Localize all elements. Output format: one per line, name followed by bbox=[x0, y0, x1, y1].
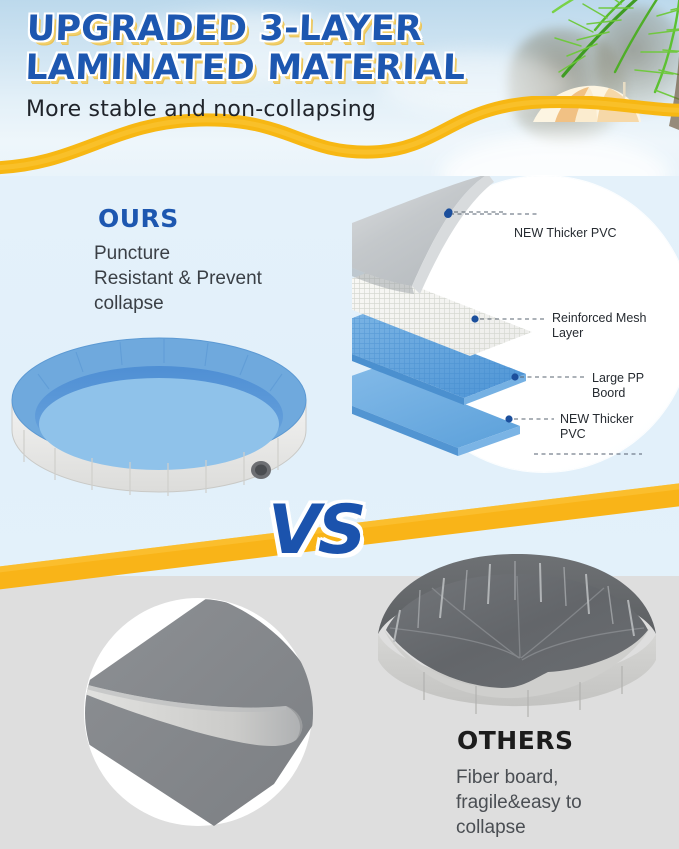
callout-label-mesh: Reinforced Mesh Layer bbox=[552, 311, 647, 341]
callout-label-bottom-pvc: NEW Thicker PVC bbox=[560, 412, 633, 442]
grey-fiber-board-peel-image bbox=[74, 588, 324, 838]
grey-collapsed-pool-image bbox=[372, 538, 662, 728]
callout-dot-3 bbox=[511, 373, 518, 380]
vs-badge: VS bbox=[268, 497, 364, 565]
ours-heading: OURS bbox=[98, 204, 179, 233]
callout-label-top-pvc: NEW Thicker PVC bbox=[514, 226, 617, 241]
callout-label-pp-board: Large PP Boord bbox=[592, 371, 644, 401]
callout-dot-2 bbox=[471, 315, 478, 322]
others-description: Fiber board, fragile&easy to collapse bbox=[456, 765, 671, 840]
hero-text-block: UPGRADED 3-LAYER LAMINATED MATERIAL More… bbox=[26, 10, 496, 122]
ours-description: Puncture Resistant & Prevent collapse bbox=[94, 241, 304, 316]
page-title: UPGRADED 3-LAYER LAMINATED MATERIAL bbox=[25, 10, 498, 88]
callout-dot-4 bbox=[505, 415, 512, 422]
infographic-canvas: UPGRADED 3-LAYER LAMINATED MATERIAL More… bbox=[0, 0, 679, 849]
others-heading: OTHERS bbox=[457, 726, 574, 755]
page-subtitle: More stable and non-collapsing bbox=[26, 97, 496, 122]
hero-banner: UPGRADED 3-LAYER LAMINATED MATERIAL More… bbox=[0, 0, 679, 182]
callout-dot-1 bbox=[445, 208, 452, 215]
